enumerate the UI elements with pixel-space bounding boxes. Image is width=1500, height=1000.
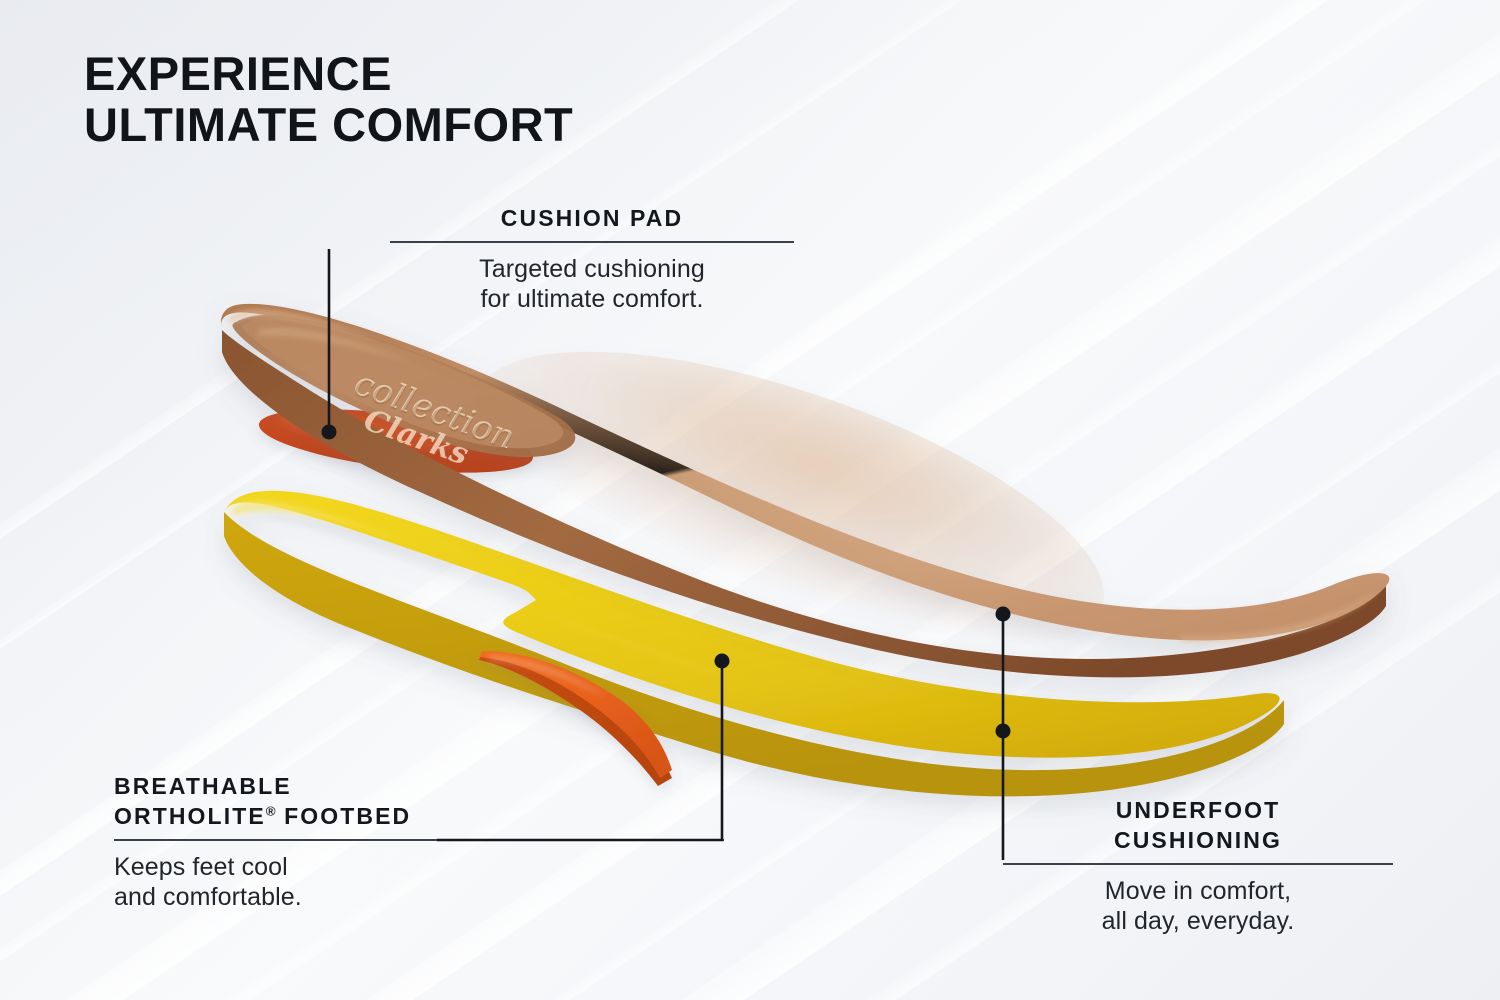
infographic-canvas: collection collection Clarks	[0, 0, 1500, 1000]
callout-underfoot-rule	[1003, 863, 1393, 865]
leader-dot-ortholite	[715, 654, 730, 669]
callout-cushion-pad-rule	[390, 241, 794, 243]
callout-ortholite-title: BREATHABLE ORTHOLITE® FOOTBED	[114, 772, 724, 832]
registered-trademark-icon: ®	[266, 803, 276, 818]
callout-underfoot-cushioning: UNDERFOOT CUSHIONING Move in comfort, al…	[1003, 796, 1393, 937]
forefoot-cushion-pad	[479, 651, 672, 786]
leader-dot-underfoot-footbed	[996, 724, 1011, 739]
ortholite-footbed-layer	[224, 491, 1284, 797]
callout-cushion-pad: CUSHION PAD Targeted cushioning for ulti…	[390, 204, 794, 315]
heel-cushion-pad	[256, 397, 537, 484]
brand-signature-clarks: Clarks	[359, 403, 473, 473]
leader-dot-underfoot-insole	[996, 607, 1011, 622]
callout-ortholite-title-part1: BREATHABLE ORTHOLITE	[114, 773, 292, 829]
callout-ortholite-title-part2: FOOTBED	[276, 803, 412, 829]
callout-cushion-pad-title: CUSHION PAD	[390, 204, 794, 234]
callout-underfoot-body: Move in comfort, all day, everyday.	[1003, 876, 1393, 937]
brand-script-collection: collection	[349, 363, 520, 458]
page-title: EXPERIENCE ULTIMATE COMFORT	[84, 48, 573, 150]
callout-underfoot-title: UNDERFOOT CUSHIONING	[1003, 796, 1393, 856]
brand-emboss: collection collection Clarks	[349, 363, 520, 473]
leader-dot-cushion-pad	[322, 425, 337, 440]
brand-script-collection-shadow: collection	[349, 365, 520, 460]
callout-ortholite-footbed: BREATHABLE ORTHOLITE® FOOTBED Keeps feet…	[114, 772, 724, 913]
callout-ortholite-rule	[114, 839, 724, 841]
insole-top-cover: collection collection Clarks	[221, 290, 1389, 709]
callout-ortholite-body: Keeps feet cool and comfortable.	[114, 852, 724, 913]
callout-cushion-pad-body: Targeted cushioning for ultimate comfort…	[390, 254, 794, 315]
